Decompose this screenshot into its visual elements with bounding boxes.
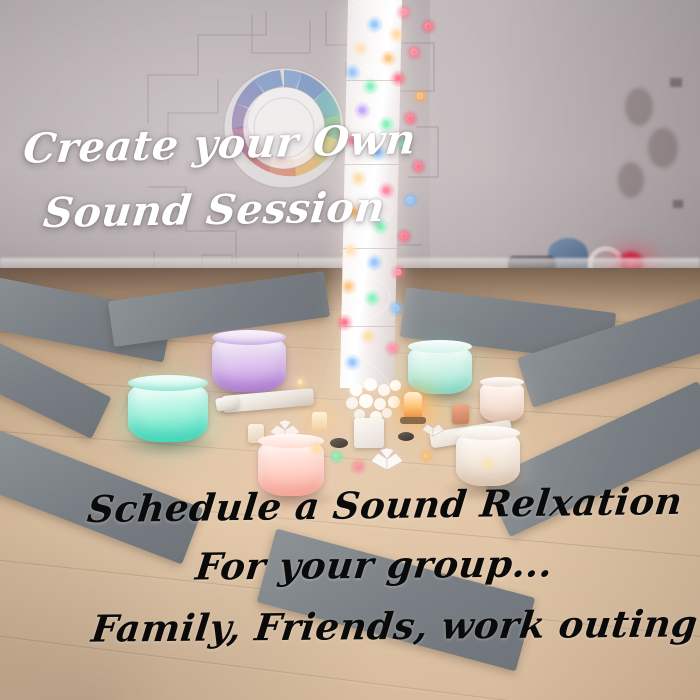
bowl-rim-white-small bbox=[480, 377, 524, 387]
salt-lamp bbox=[404, 392, 422, 420]
string-light-bulb bbox=[395, 269, 402, 276]
tealight-left bbox=[312, 412, 327, 430]
string-light-bulb bbox=[355, 175, 362, 182]
candle-inside-bowl bbox=[478, 456, 498, 472]
bowl-rim-purple bbox=[212, 330, 286, 345]
string-light-bulb bbox=[341, 319, 348, 326]
string-light-bulb bbox=[401, 233, 408, 240]
string-light-bulb bbox=[393, 305, 400, 312]
string-light-bulb bbox=[365, 333, 372, 340]
sound-session-poster: Create your Own Sound Session Schedule a… bbox=[0, 0, 700, 700]
string-light-bulb bbox=[347, 247, 354, 254]
string-light-bulb bbox=[371, 259, 378, 266]
floor-fairy-light bbox=[298, 380, 303, 385]
string-light-bulb bbox=[401, 9, 408, 16]
string-light-bulb bbox=[425, 23, 432, 30]
string-light-bulb bbox=[357, 45, 364, 52]
callout-line-3: Family, Friends, work outing bbox=[89, 601, 700, 650]
crystal-cluster-right bbox=[420, 420, 446, 438]
string-light-bulb bbox=[393, 31, 400, 38]
callout-line-1: Schedule a Sound Relxation bbox=[85, 479, 685, 531]
terracotta-candle bbox=[452, 404, 469, 424]
floor-fairy-light bbox=[334, 454, 339, 459]
bowl-rim-white-candle bbox=[456, 426, 520, 440]
headline-line-2: Sound Session bbox=[41, 183, 387, 237]
floor-fairy-light bbox=[314, 446, 319, 451]
string-light-bulb bbox=[371, 21, 378, 28]
crystal-lotus-center bbox=[368, 448, 406, 472]
string-light-bulb bbox=[389, 345, 396, 352]
string-light-bulb bbox=[395, 75, 402, 82]
string-light-bulb bbox=[349, 359, 356, 366]
string-light-bulb bbox=[369, 295, 376, 302]
bowl-rim-teal-large bbox=[128, 375, 208, 391]
callout-line-2: For your group... bbox=[193, 541, 555, 588]
string-light-bulb bbox=[349, 69, 356, 76]
string-light-bulb bbox=[415, 163, 422, 170]
bowl-rim-teal-right bbox=[408, 340, 472, 353]
headline-line-1: Create your Own bbox=[21, 115, 418, 173]
string-light-bulb bbox=[407, 197, 414, 204]
string-light-bulb bbox=[345, 283, 352, 290]
string-light-bulb bbox=[411, 49, 418, 56]
floor-fairy-light bbox=[424, 454, 429, 459]
string-light-bulb bbox=[385, 55, 392, 62]
string-light-bulb bbox=[359, 107, 366, 114]
flower-vase bbox=[354, 418, 384, 448]
string-light-bulb bbox=[417, 93, 424, 100]
dark-stone-right bbox=[398, 432, 414, 441]
floor-fairy-light bbox=[356, 464, 361, 469]
string-light-bulb bbox=[367, 83, 374, 90]
